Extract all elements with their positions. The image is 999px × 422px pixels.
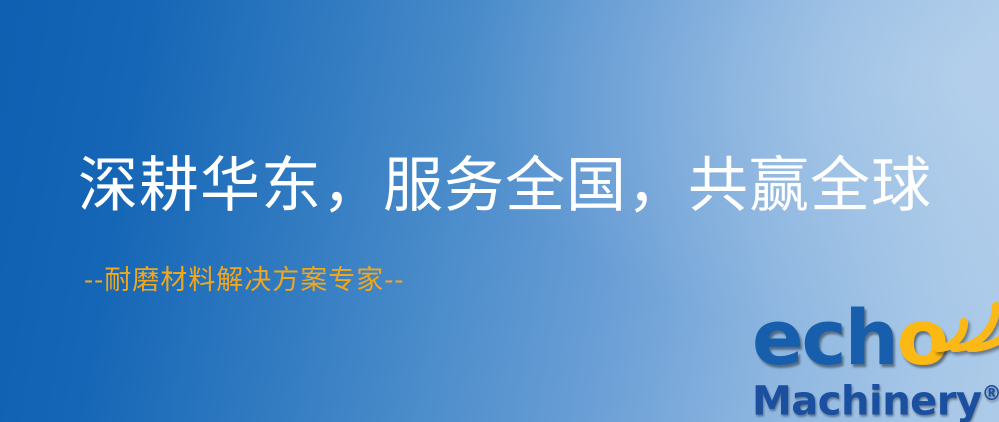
- logo-wordmark: echo: [748, 296, 999, 378]
- signal-waves-icon: [932, 292, 999, 354]
- registered-trademark-icon: ®: [982, 381, 999, 405]
- echo-machinery-logo: echo Machinery®: [748, 296, 999, 422]
- logo-echo-text: echo: [752, 298, 947, 378]
- promo-banner: 深耕华东，服务全国，共赢全球 --耐磨材料解决方案专家-- echo Machi…: [0, 0, 999, 422]
- banner-subheadline: --耐磨材料解决方案专家--: [84, 264, 405, 298]
- logo-tagline-label: Machinery: [752, 378, 982, 422]
- banner-headline: 深耕华东，服务全国，共赢全球: [78, 148, 932, 224]
- logo-echo-blue-letters: ech: [752, 293, 897, 382]
- logo-machinery-text: Machinery®: [752, 370, 999, 422]
